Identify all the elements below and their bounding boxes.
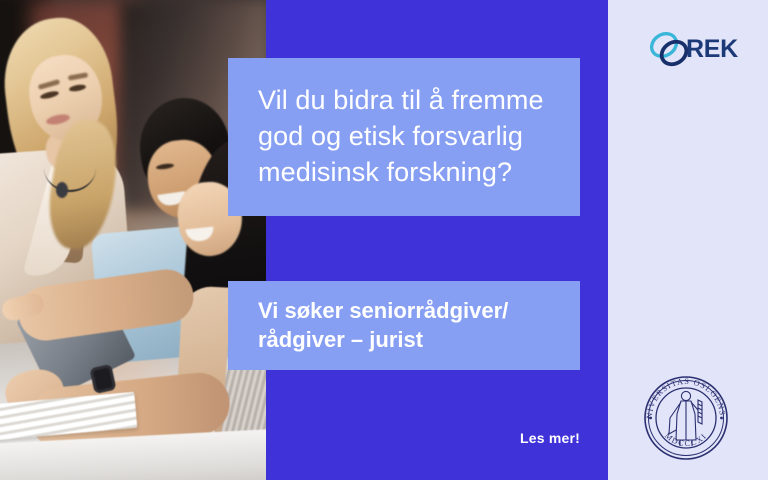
person-blonde-pendant bbox=[56, 182, 68, 198]
headline-text: Vil du bidra til å fremme god og etisk f… bbox=[228, 83, 544, 191]
person-blonde-necklace bbox=[44, 144, 96, 192]
uio-seal: UNIVERSITAS OSLOENSIS MDCCCXI bbox=[636, 368, 736, 468]
headline-box: Vil du bidra til å fremme god og etisk f… bbox=[228, 58, 580, 216]
rek-logo[interactable]: REK bbox=[648, 26, 740, 74]
rek-wordmark: REK bbox=[686, 35, 738, 64]
read-more-link[interactable]: Les mer! bbox=[440, 430, 580, 446]
job-title-text: Vi søker seniorrådgiver/ rådgiver – juri… bbox=[228, 297, 508, 354]
recruitment-banner: Vil du bidra til å fremme god og etisk f… bbox=[0, 0, 768, 480]
team-photo bbox=[0, 0, 266, 480]
job-title-box: Vi søker seniorrådgiver/ rådgiver – juri… bbox=[228, 281, 580, 370]
university-of-oslo-seal-icon: UNIVERSITAS OSLOENSIS MDCCCXI bbox=[636, 368, 736, 468]
